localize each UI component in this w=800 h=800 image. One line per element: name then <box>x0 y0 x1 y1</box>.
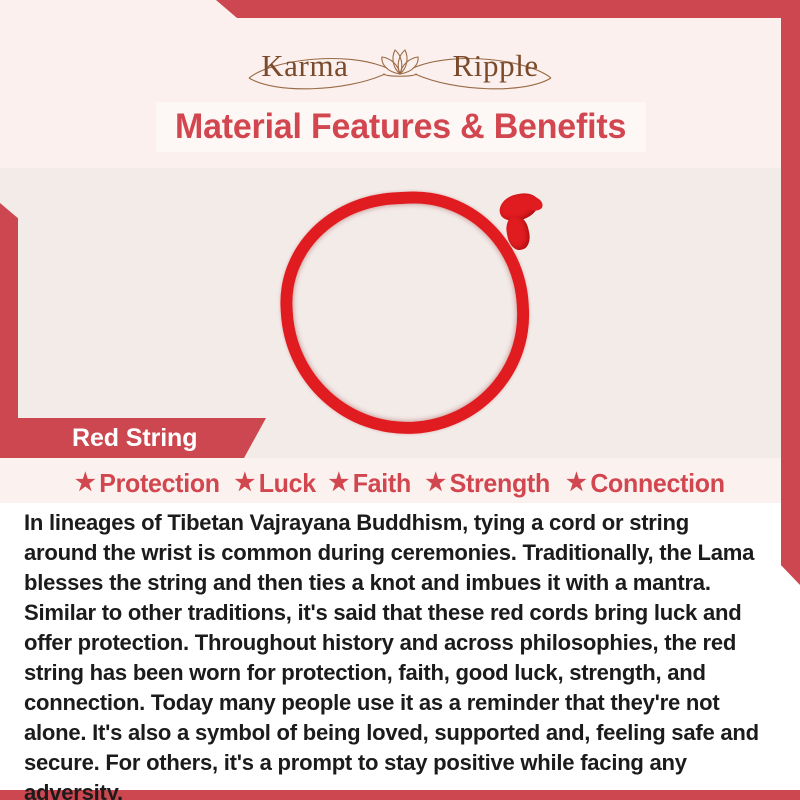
top-right-accent-shape <box>216 0 800 18</box>
star-icon: ★ <box>566 471 586 495</box>
benefit-label: Faith <box>353 468 411 499</box>
benefits-list: ★ Protection ★ Luck ★ Faith ★ Strength ★… <box>0 462 800 504</box>
benefit-item-luck: ★ Luck <box>225 468 316 499</box>
benefit-item-protection: ★ Protection <box>75 468 220 499</box>
benefit-label: Protection <box>99 468 220 499</box>
star-icon: ★ <box>75 471 95 495</box>
brand-logo: Karma Ripple <box>0 34 800 96</box>
lotus-icon <box>382 50 418 76</box>
brand-name-first: Karma <box>261 50 348 81</box>
benefit-label: Strength <box>450 468 550 499</box>
material-name-label: Red String <box>72 424 197 453</box>
page-title: Material Features & Benefits <box>175 107 626 147</box>
headline-banner: Material Features & Benefits <box>156 102 646 152</box>
bracelet-cord <box>275 186 535 441</box>
benefit-item-strength: ★ Strength <box>416 468 550 499</box>
brand-name-second: Ripple <box>453 50 539 81</box>
benefit-label: Connection <box>590 468 724 499</box>
benefit-item-connection: ★ Connection <box>556 468 724 499</box>
benefit-label: Luck <box>258 468 315 499</box>
left-accent-bar <box>0 203 18 458</box>
description-paragraph: In lineages of Tibetan Vajrayana Buddhis… <box>24 508 765 800</box>
benefit-item-faith: ★ Faith <box>319 468 411 499</box>
infographic-page: Karma Ripple Material Features & Benefit… <box>0 0 800 800</box>
star-icon: ★ <box>329 471 349 495</box>
product-image <box>275 178 545 448</box>
material-name-ribbon: Red String <box>18 418 266 458</box>
star-icon: ★ <box>234 471 254 495</box>
star-icon: ★ <box>426 471 446 495</box>
